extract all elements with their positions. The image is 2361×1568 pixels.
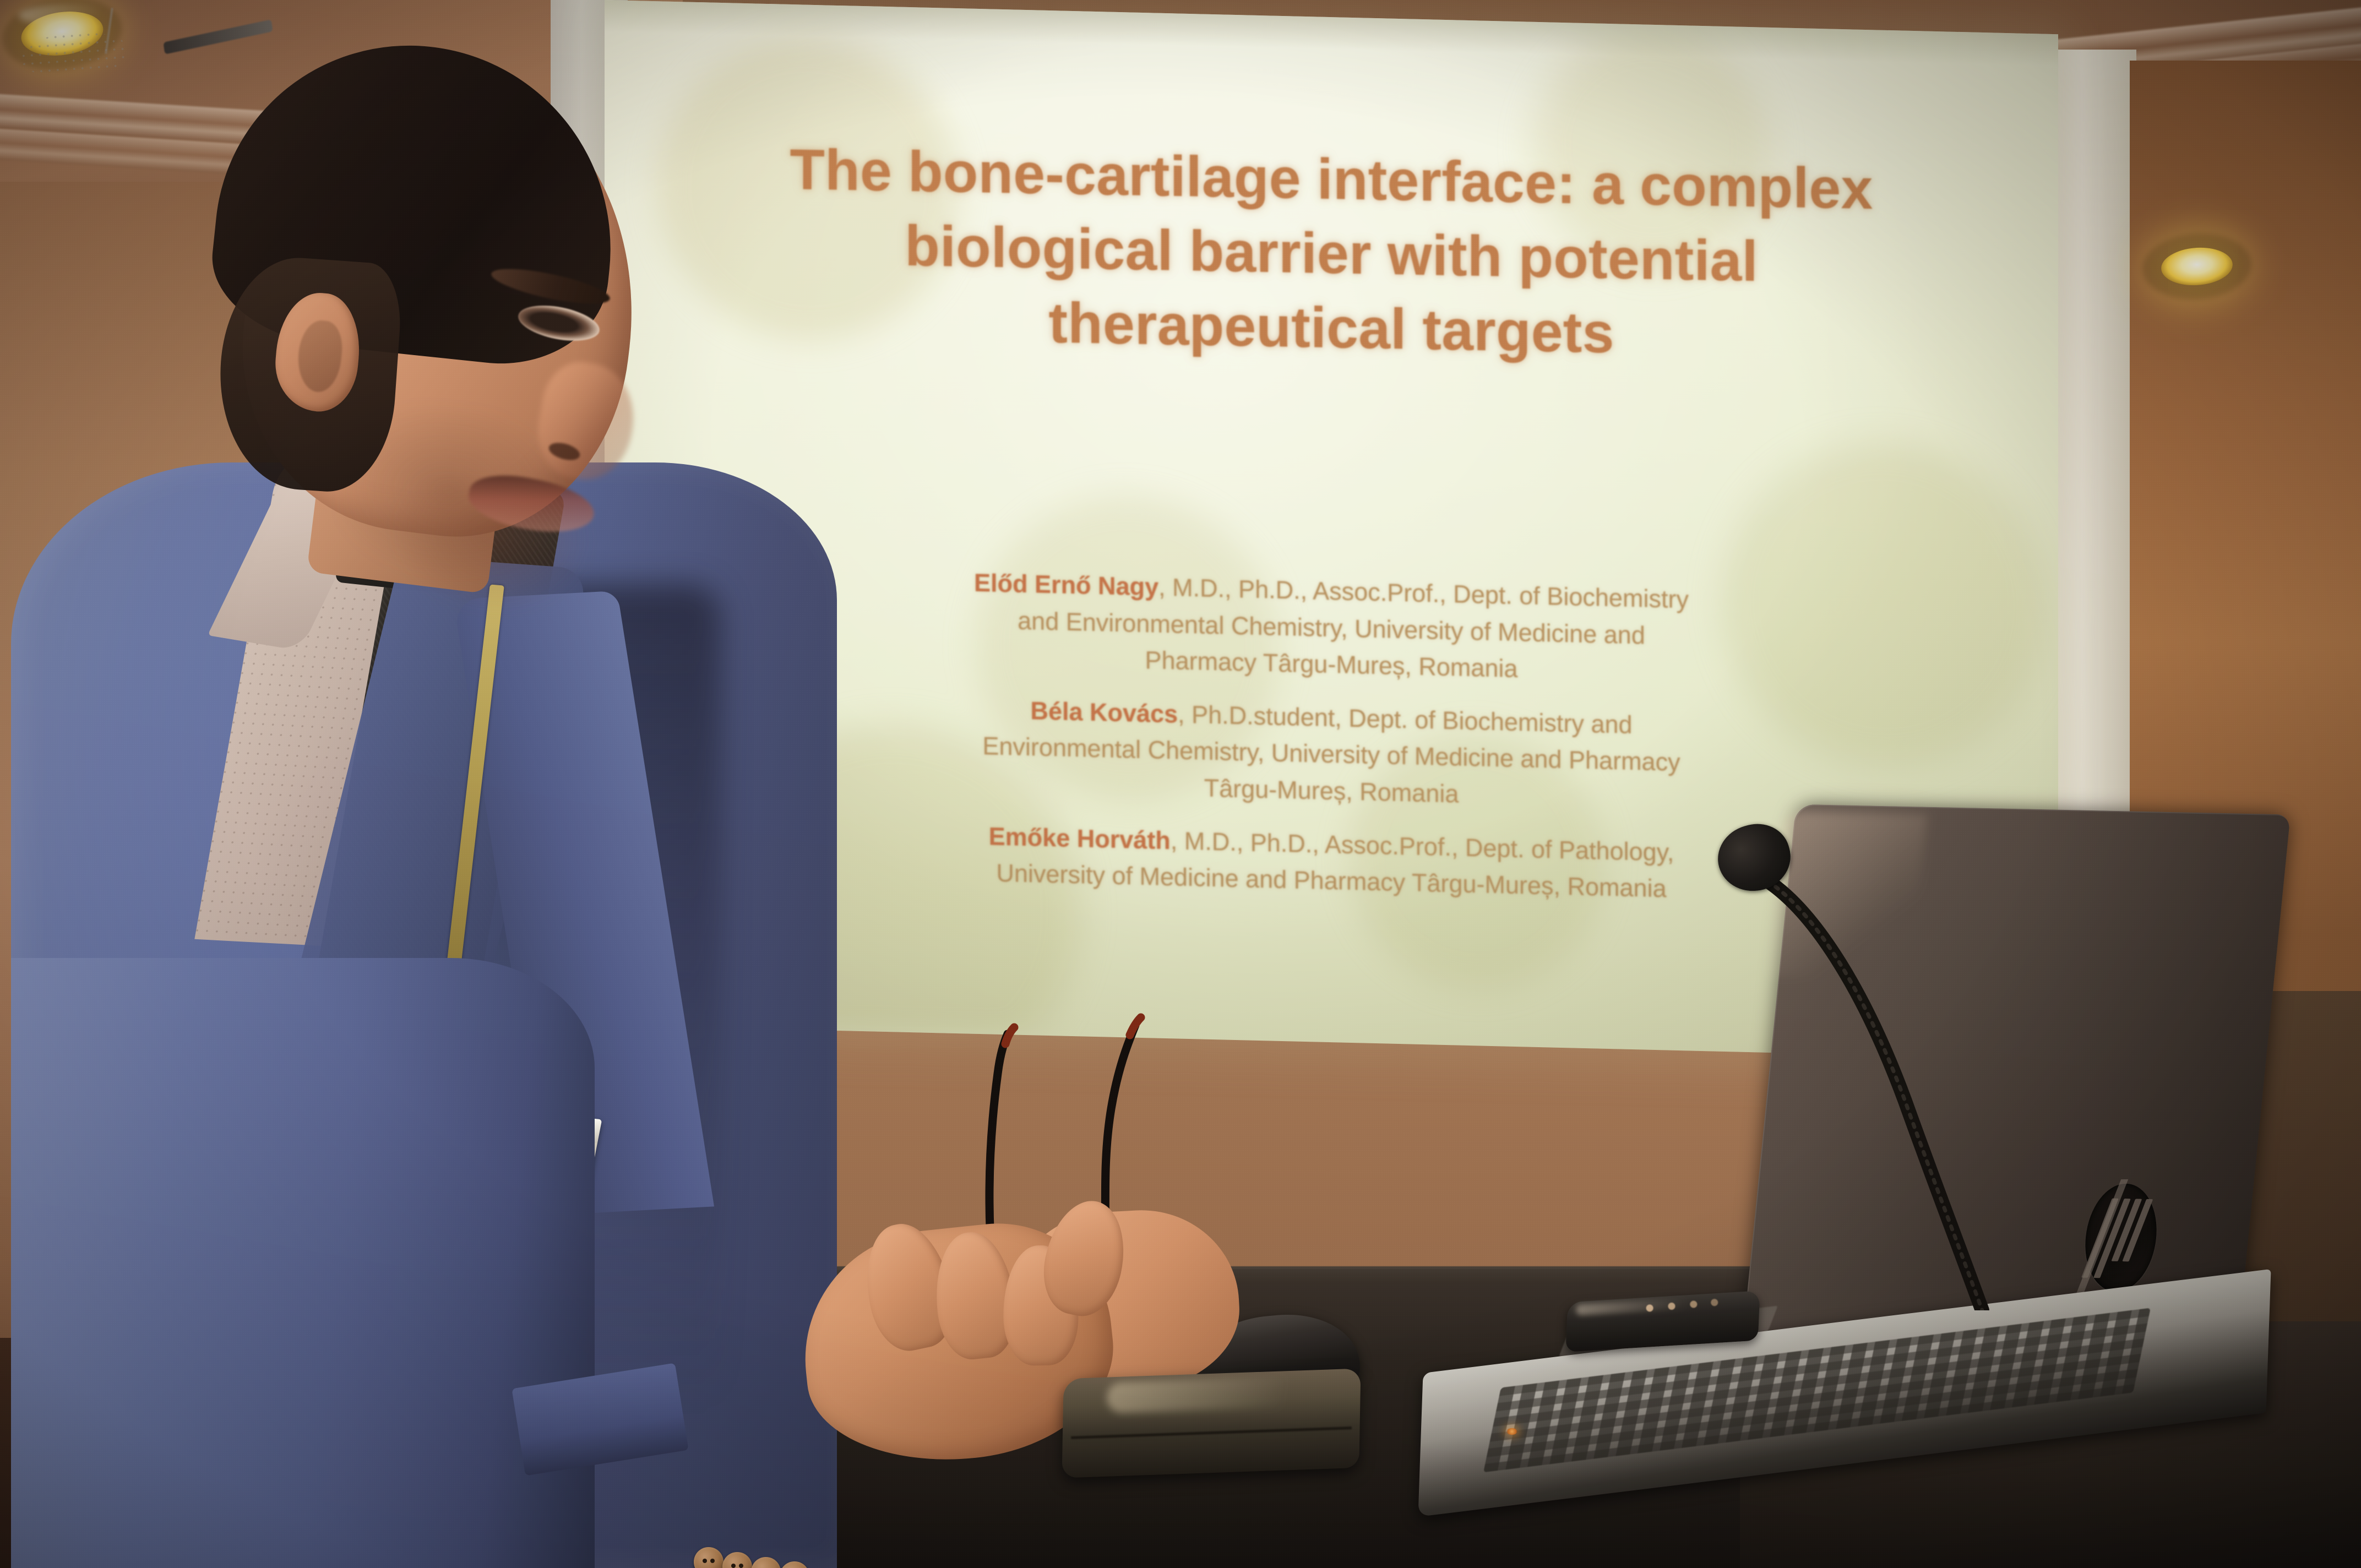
photograph-scene: The bone-cartilage interface: a complex …: [0, 0, 2361, 1568]
laptop-power-led-icon: [1506, 1428, 1517, 1435]
hp-logo-icon: [2080, 1183, 2161, 1293]
jacket-sleeve: [11, 958, 595, 1568]
author-affiliation-part: , Ph.D.student, Dept. of Biochemistry an…: [1178, 700, 1632, 738]
mouse-highlight: [19, 4, 118, 26]
ceiling-spotlight-icon: [2160, 246, 2234, 288]
microphone-gooseneck: [1685, 815, 1993, 1310]
author-affiliation-part: , M.D., Ph.D., Assoc.Prof., Dept. of Pat…: [1171, 826, 1674, 867]
podium-microphone: [1685, 815, 1993, 1310]
